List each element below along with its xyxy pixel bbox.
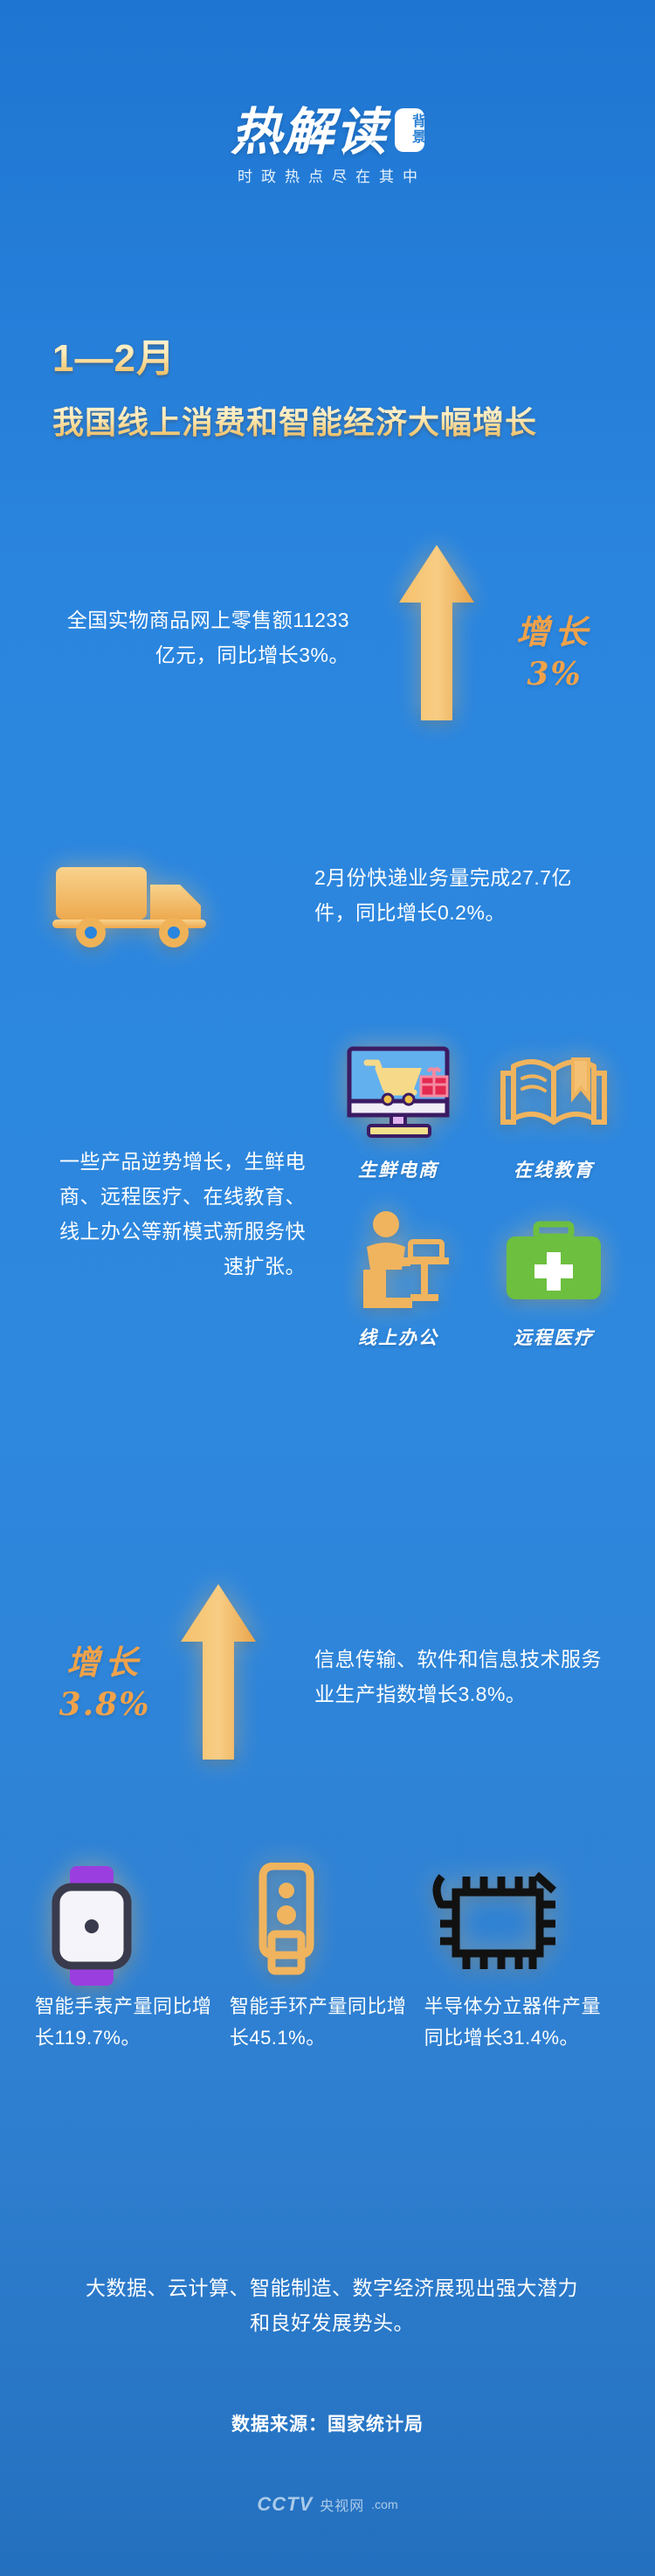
up-arrow-icon [397,541,476,729]
semiconductor-chip-icon [424,1860,620,1991]
icon-label-online-education: 在线教育 [487,1156,620,1182]
delivery-truck-icon [52,851,210,956]
online-education-icon [487,1043,620,1153]
device-text-smart-band: 智能手环产量同比增长45.1%。 [230,1991,409,2054]
title-line-1: 1—2月 [52,336,611,382]
growth-value: 3% [489,653,620,695]
devices-row: 智能手表产量同比增长119.7%。 智能手环产量同比增长45.1%。 [35,1860,620,2054]
new-models-icon-grid: 生鲜电商 在线教育 [332,1043,620,1350]
remote-office-icon [332,1207,465,1320]
infographic-page: 热解读 背景 时政热点尽在其中 1—2月 我国线上消费和智能经济大幅增长 全国实… [0,0,655,2576]
icon-label-telemedicine: 远程医疗 [487,1324,620,1350]
new-models-text: 一些产品逆势增长，生鲜电商、远程医疗、在线教育、线上办公等新模式新服务快速扩张。 [52,1144,306,1284]
header: 热解读 背景 时政热点尽在其中 [0,105,655,186]
icon-cell-online-education: 在线教育 [487,1043,620,1182]
online-retail-text: 全国实物商品网上零售额11233亿元，同比增长3%。 [52,603,349,672]
icon-cell-telemedicine: 远程医疗 [487,1207,620,1350]
cctv-logo-cn: 央视网 [320,2494,364,2515]
it-services-growth: 增长 3.8% [35,1642,175,1725]
device-cell-semiconductor: 半导体分立器件产量同比增长31.4%。 [424,1860,620,2054]
telemedicine-icon [487,1207,620,1320]
online-retail-growth: 增长 3% [489,611,620,695]
smart-band-icon [230,1860,409,1991]
up-arrow-icon-2 [179,1581,258,1768]
icon-cell-remote-office: 线上办公 [332,1207,465,1350]
device-cell-smart-watch: 智能手表产量同比增长119.7%。 [35,1860,214,2054]
device-text-smart-watch: 智能手表产量同比增长119.7%。 [35,1991,214,2054]
data-source: 数据来源：国家统计局 [0,2410,655,2436]
brand-badge: 背景 [395,108,424,152]
brand-title: 热解读 [231,105,388,159]
brand-subtitle: 时政热点尽在其中 [0,164,655,186]
growth-label: 增长 [489,611,620,653]
it-services-text: 信息传输、软件和信息技术服务业生产指数增长3.8%。 [314,1642,611,1712]
growth-label-2: 增长 [35,1642,175,1684]
cctv-logo-mark: CCTV [257,2493,313,2516]
express-text: 2月份快递业务量完成27.7亿件，同比增长0.2%。 [314,860,603,930]
icon-label-remote-office: 线上办公 [332,1324,465,1350]
page-title: 1—2月 我国线上消费和智能经济大幅增长 [52,336,611,443]
cctv-logo: CCTV 央视网 .com [0,2493,655,2516]
online-grocery-icon [332,1043,465,1153]
icon-label-online-grocery: 生鲜电商 [332,1156,465,1182]
device-text-semiconductor: 半导体分立器件产量同比增长31.4%。 [424,1991,620,2054]
growth-value-2: 3.8% [35,1684,175,1725]
device-cell-smart-band: 智能手环产量同比增长45.1%。 [230,1860,409,2054]
smart-watch-icon [35,1860,214,1991]
brand-row: 热解读 背景 [0,105,655,159]
cctv-logo-com: .com [371,2497,397,2511]
title-line-2: 我国线上消费和智能经济大幅增长 [52,403,611,443]
conclusion-text: 大数据、云计算、智能制造、数字经济展现出强大潜力和良好发展势头。 [83,2270,581,2340]
icon-cell-online-grocery: 生鲜电商 [332,1043,465,1182]
